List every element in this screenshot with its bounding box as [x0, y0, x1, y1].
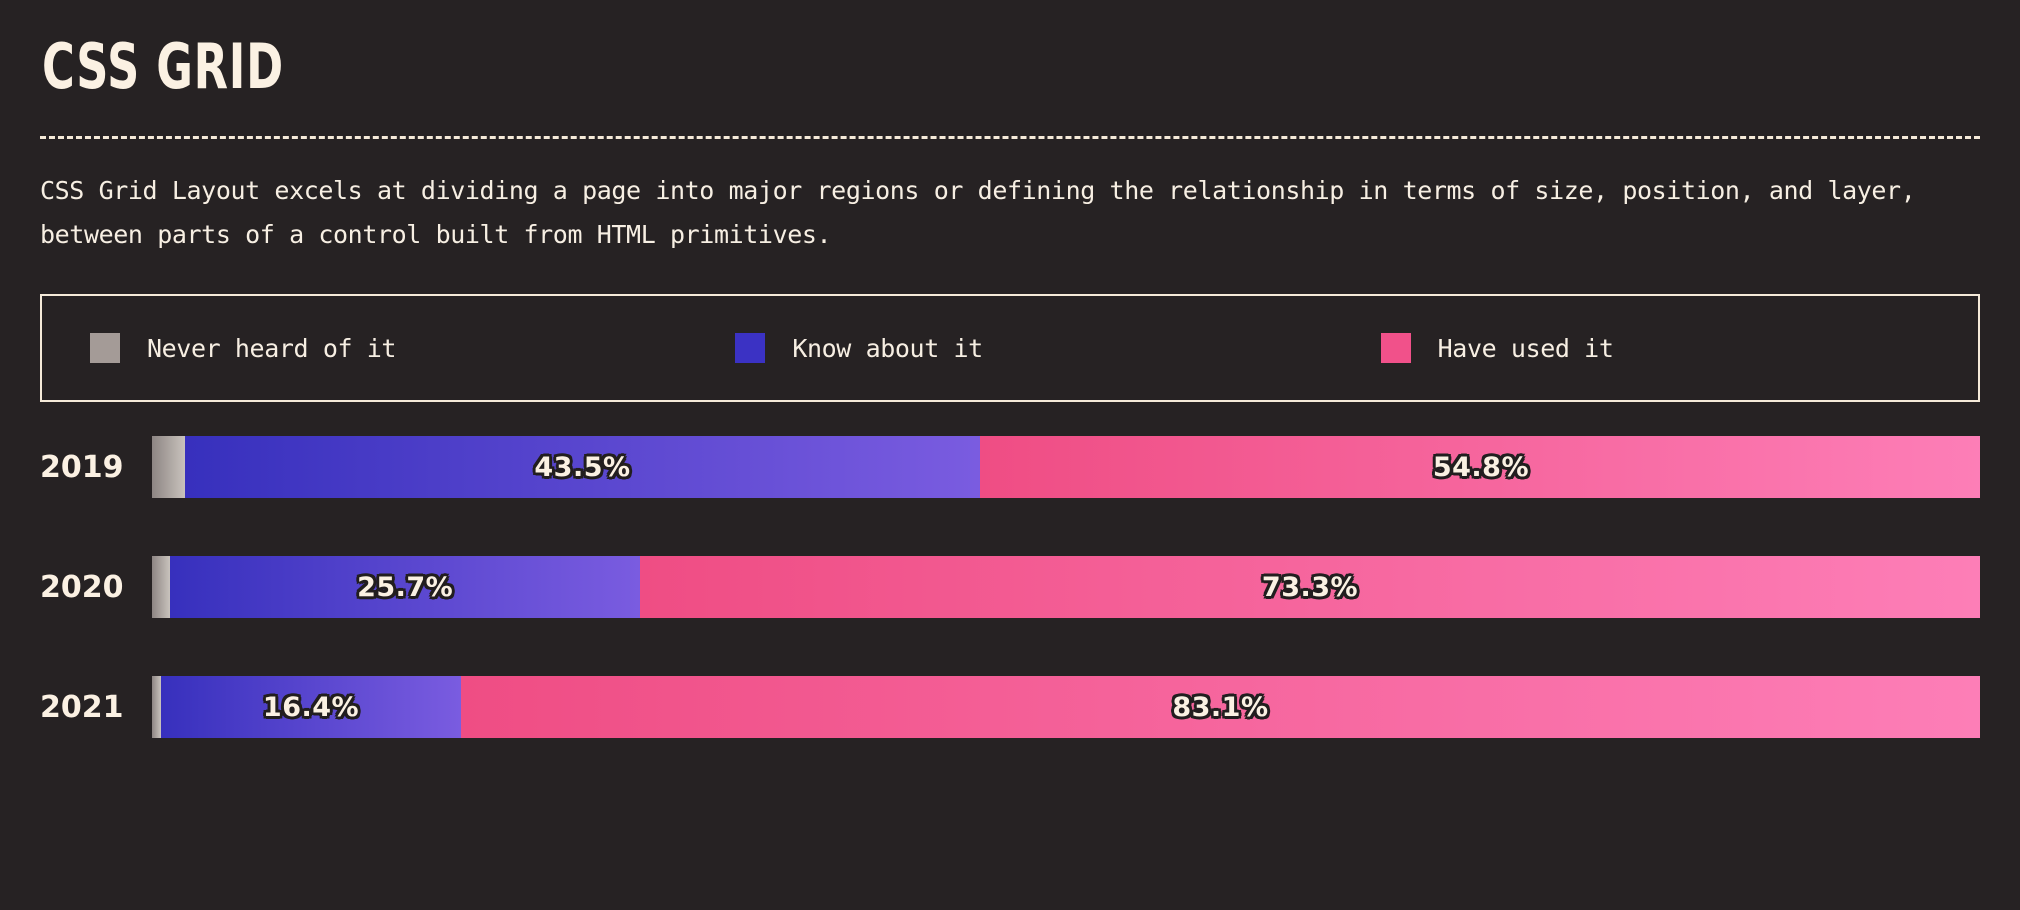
bar-row: 2021 16.4% 83.1% [40, 676, 1980, 738]
bar-segment-have-used-it[interactable]: 73.3% [640, 556, 1980, 618]
bar-segment-value: 83.1% [1172, 692, 1268, 723]
bar-segment-value: 16.4% [263, 692, 359, 723]
bar-segment-value: 54.8% [1433, 452, 1529, 483]
bar-year-label: 2021 [40, 690, 152, 725]
bar-segment-never-heard-of-it[interactable] [152, 676, 161, 738]
bar-segment-know-about-it[interactable]: 43.5% [185, 436, 980, 498]
bar-segment-have-used-it[interactable]: 83.1% [461, 676, 1980, 738]
bar-segment-value: 73.3% [1262, 572, 1358, 603]
legend-item-know-about-it[interactable]: Know about it [687, 333, 1332, 363]
bar-segment-know-about-it[interactable]: 16.4% [161, 676, 461, 738]
bar-segment-have-used-it[interactable]: 54.8% [980, 436, 1980, 498]
bar-segment-never-heard-of-it[interactable] [152, 436, 185, 498]
bar-segment-know-about-it[interactable]: 25.7% [170, 556, 640, 618]
bar-segment-value: 43.5% [534, 452, 630, 483]
page-title: CSS GRID [42, 0, 1437, 98]
legend-item-label: Never heard of it [147, 334, 396, 363]
stacked-bar-chart: 2019 43.5% 54.8% 2020 25.7% [40, 436, 1980, 738]
legend-swatch-icon [90, 333, 120, 363]
chart-legend: Never heard of it Know about it Have use… [40, 294, 1980, 402]
legend-swatch-icon [735, 333, 765, 363]
legend-swatch-icon [1381, 333, 1411, 363]
bar-track: 43.5% 54.8% [152, 436, 1980, 498]
legend-item-label: Know about it [792, 334, 982, 363]
title-divider [40, 136, 1980, 139]
bar-row: 2019 43.5% 54.8% [40, 436, 1980, 498]
legend-item-label: Have used it [1438, 334, 1614, 363]
bar-track: 16.4% 83.1% [152, 676, 1980, 738]
page-root: CSS GRID CSS Grid Layout excels at divid… [0, 0, 2020, 910]
bar-year-label: 2019 [40, 450, 152, 485]
bar-row: 2020 25.7% 73.3% [40, 556, 1980, 618]
bar-segment-never-heard-of-it[interactable] [152, 556, 170, 618]
bar-year-label: 2020 [40, 570, 152, 605]
description-paragraph: CSS Grid Layout excels at dividing a pag… [40, 169, 1980, 256]
bar-track: 25.7% 73.3% [152, 556, 1980, 618]
legend-item-have-used-it[interactable]: Have used it [1333, 333, 1978, 363]
bar-segment-value: 25.7% [357, 572, 453, 603]
legend-item-never-heard-of-it[interactable]: Never heard of it [42, 333, 687, 363]
